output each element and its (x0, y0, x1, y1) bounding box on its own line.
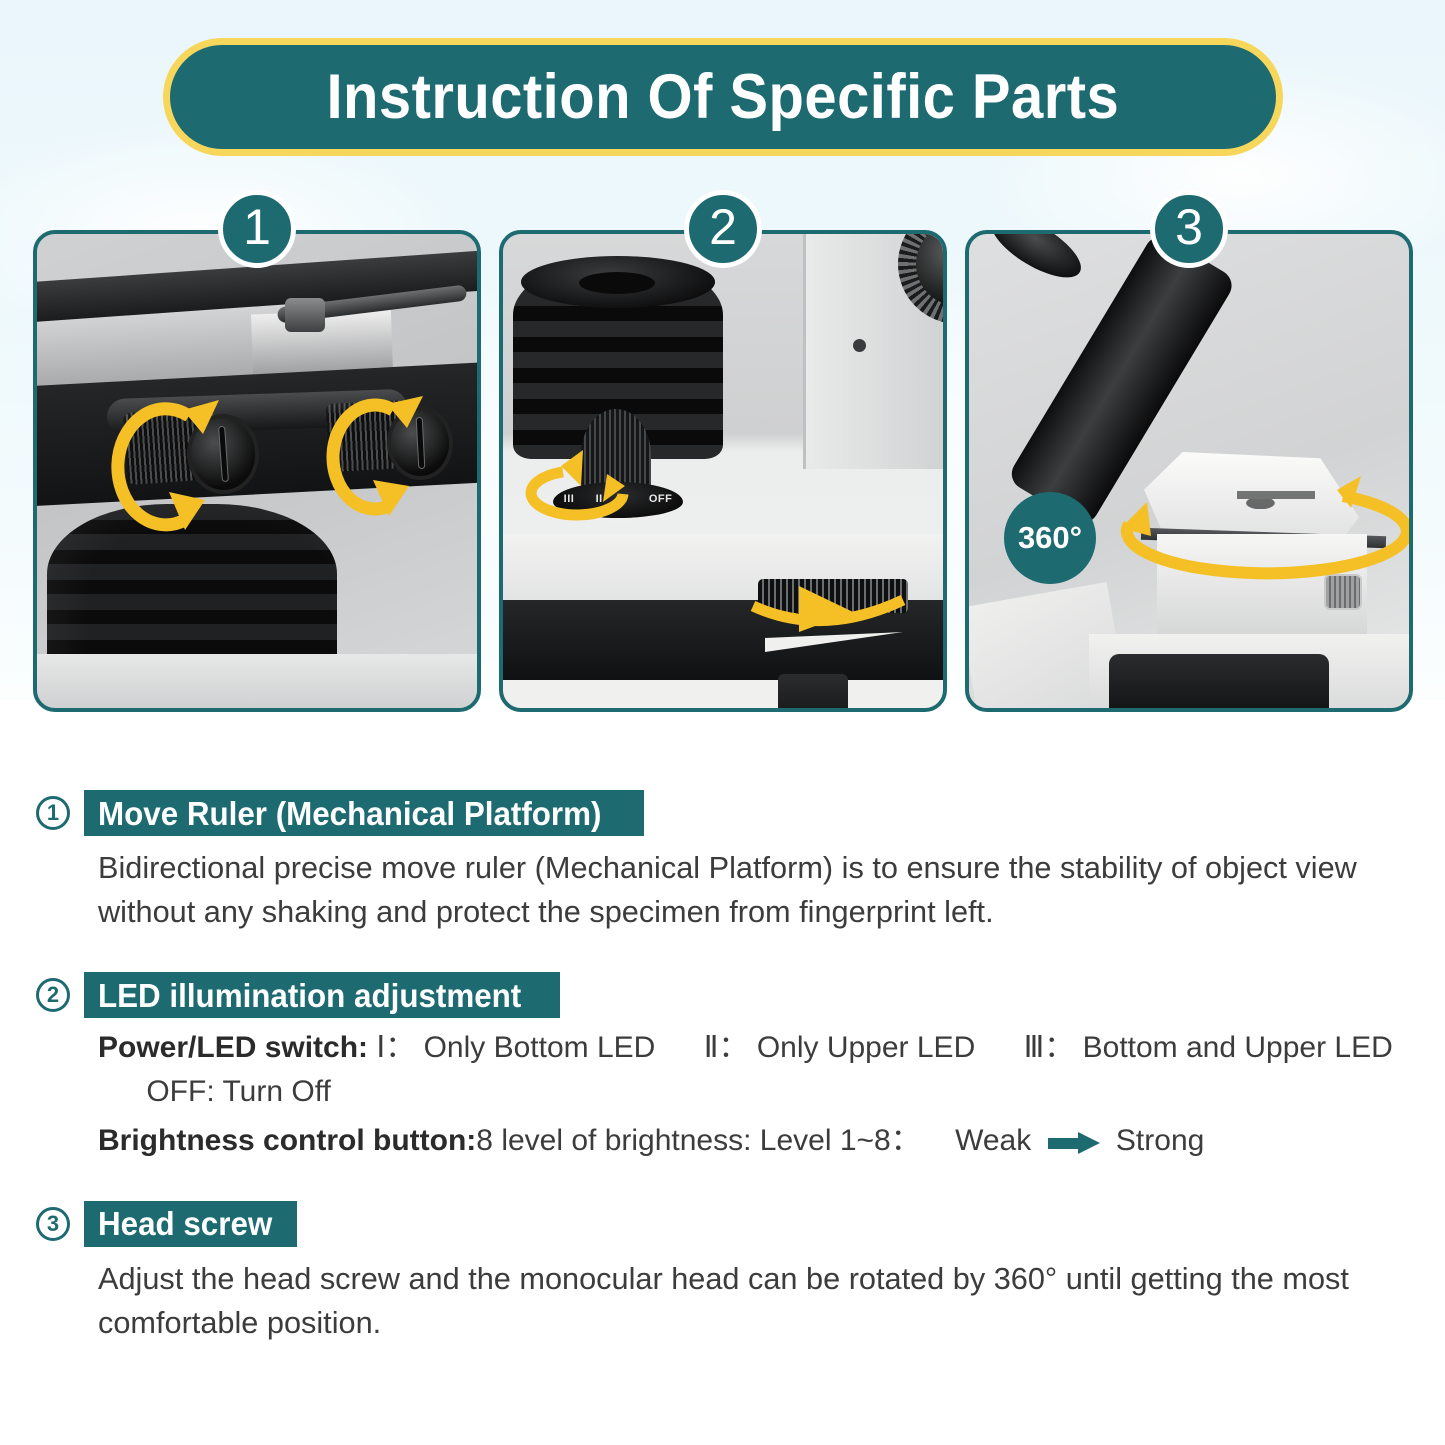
section-3-heading: Head screw (98, 1207, 272, 1240)
section-3-number-badge: 3 (36, 1207, 70, 1241)
switch-label-off: OFF (649, 493, 673, 505)
section-2-heading-row: 2 LED illumination adjustment (36, 972, 1445, 1018)
section-3-heading-row: 3 Head screw (36, 1201, 1445, 1247)
section-head-screw: 3 Head screw Adjust the head screw and t… (0, 1201, 1445, 1345)
section-3-heading-bar: Head screw (84, 1201, 297, 1247)
brightness-detail: 8 level of brightness: Level 1~8： (476, 1124, 920, 1157)
panel-badge-2: 2 (684, 190, 762, 268)
panel-badge-1: 1 (218, 190, 296, 268)
mode-1-text: Only Bottom LED (424, 1031, 656, 1064)
mode-3-text: Bottom and Upper LED (1083, 1031, 1393, 1064)
section-2-heading-bar: LED illumination adjustment (84, 972, 560, 1018)
power-switch-line: Power/LED switch: Ⅰ： Only Bottom LED Ⅱ： … (98, 1026, 1418, 1113)
mode-3-colon: ： (1044, 1031, 1074, 1064)
mode-1-numeral: Ⅰ (376, 1031, 385, 1064)
power-switch-label: Power/LED switch: (98, 1031, 368, 1064)
photo-panel-3: 360° (965, 230, 1413, 712)
mode-3-numeral: Ⅲ (1024, 1031, 1045, 1064)
led-details: Power/LED switch: Ⅰ： Only Bottom LED Ⅱ： … (98, 1026, 1418, 1163)
mode-2-numeral: Ⅱ (704, 1031, 719, 1064)
page-title: Instruction Of Specific Parts (327, 66, 1120, 129)
section-1-body: Bidirectional precise move ruler (Mechan… (98, 846, 1400, 934)
section-led-illumination: 2 LED illumination adjustment Power/LED … (0, 972, 1445, 1163)
right-arrow-icon (1048, 1134, 1100, 1151)
strong-label: Strong (1116, 1124, 1204, 1157)
brightness-label: Brightness control button: (98, 1124, 476, 1157)
section-1-heading: Move Ruler (Mechanical Platform) (98, 797, 601, 830)
section-move-ruler: 1 Move Ruler (Mechanical Platform) Bidir… (0, 790, 1445, 934)
section-2-number-badge: 2 (36, 978, 70, 1012)
rotation-360-badge: 360° (1004, 492, 1096, 584)
switch-label-i: I (624, 493, 628, 505)
head-screw (1324, 574, 1362, 610)
photo-panel-2: III II I OFF (499, 230, 947, 712)
panel-badge-3: 3 (1150, 190, 1228, 268)
section-1-heading-bar: Move Ruler (Mechanical Platform) (84, 790, 644, 836)
photo-panel-row: III II I OFF (0, 230, 1445, 715)
brightness-line: Brightness control button:8 level of bri… (98, 1119, 1418, 1163)
mode-2-colon: ： (718, 1031, 748, 1064)
switch-label-ii: II (596, 493, 603, 505)
mode-2-text: Only Upper LED (757, 1031, 975, 1064)
switch-label-iii: III (564, 493, 575, 505)
infographic-page: Instruction Of Specific Parts (0, 0, 1445, 1445)
section-1-heading-row: 1 Move Ruler (Mechanical Platform) (36, 790, 1445, 836)
section-3-body: Adjust the head screw and the monocular … (98, 1257, 1400, 1345)
brand-logo-icon (1237, 479, 1315, 509)
weak-label: Weak (955, 1124, 1031, 1157)
page-title-banner: Instruction Of Specific Parts (163, 38, 1283, 156)
off-mode-text: OFF: Turn Off (146, 1075, 330, 1108)
instructions-content: 1 Move Ruler (Mechanical Platform) Bidir… (0, 790, 1445, 1345)
rotation-360-label: 360° (1018, 520, 1082, 556)
photo-panel-1 (33, 230, 481, 712)
mode-1-colon: ： (385, 1031, 415, 1064)
section-1-number-badge: 1 (36, 796, 70, 830)
brightness-dial (758, 579, 908, 613)
section-2-heading: LED illumination adjustment (98, 979, 521, 1012)
power-led-switch-labels: III II I OFF (553, 486, 683, 512)
